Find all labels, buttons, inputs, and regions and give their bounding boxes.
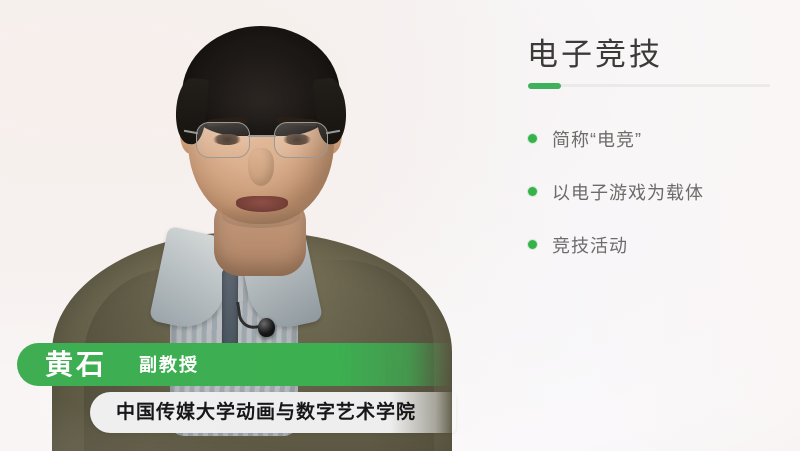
video-frame: 电子竞技 简称“电竞” 以电子游戏为载体 竞技活动 黄石 副教授 中国传媒大学动… (0, 0, 800, 451)
bullet-dot-icon (528, 134, 537, 143)
bullet-label: 以电子游戏为载体 (552, 179, 704, 205)
lens-left (196, 122, 250, 158)
eyeglasses-icon (196, 122, 328, 160)
lavalier-microphone-icon (258, 318, 275, 337)
glasses-bridge (248, 135, 276, 137)
title-accent-bar (528, 83, 561, 89)
bullet-dot-icon (528, 187, 537, 196)
bullet-dot-icon (528, 240, 537, 249)
hair (182, 26, 340, 136)
lens-right (274, 122, 328, 158)
bullet-label: 竞技活动 (552, 232, 628, 258)
list-item: 简称“电竞” (528, 112, 800, 165)
list-item: 竞技活动 (528, 218, 800, 271)
presenter-organization: 中国传媒大学动画与数字艺术学院 (116, 400, 416, 426)
chin-shadow (222, 206, 300, 228)
bullet-label: 简称“电竞” (552, 126, 642, 152)
presenter-role: 副教授 (139, 354, 199, 377)
bullet-list: 简称“电竞” 以电子游戏为载体 竞技活动 (528, 112, 800, 271)
slide-panel: 电子竞技 简称“电竞” 以电子游戏为载体 竞技活动 (500, 0, 800, 451)
title-rule (528, 84, 770, 87)
list-item: 以电子游戏为载体 (528, 165, 800, 218)
name-banner: 黄石 副教授 (17, 343, 452, 386)
slide-title: 电子竞技 (527, 36, 663, 73)
presenter-name: 黄石 (45, 347, 107, 383)
organization-banner: 中国传媒大学动画与数字艺术学院 (90, 392, 456, 433)
